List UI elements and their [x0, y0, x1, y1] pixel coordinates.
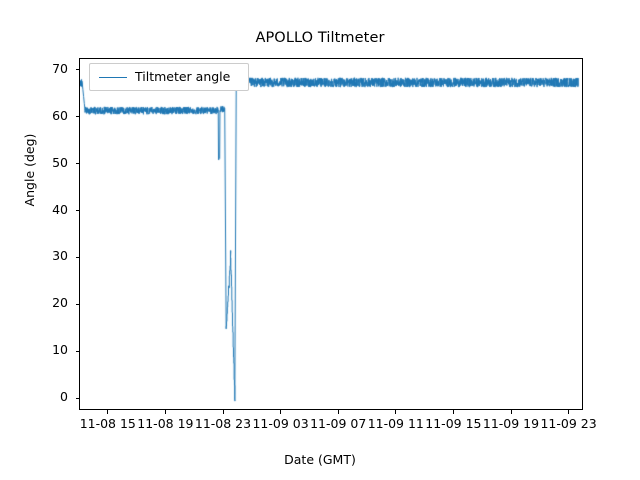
y-tick-label: 20	[0, 295, 68, 310]
y-tick-label: 60	[0, 108, 68, 123]
legend: Tiltmeter angle	[89, 63, 249, 91]
y-tick-mark	[76, 304, 80, 305]
y-tick-mark	[76, 116, 80, 117]
plot-area	[80, 59, 584, 411]
y-tick-label: 40	[0, 202, 68, 217]
x-tick-mark	[395, 410, 396, 414]
chart-title: APOLLO Tiltmeter	[0, 30, 640, 46]
figure: APOLLO Tiltmeter Tiltmeter angle Angle (…	[0, 0, 640, 480]
y-tick-label: 0	[0, 389, 68, 404]
y-tick-mark	[76, 257, 80, 258]
y-tick-label: 10	[0, 342, 68, 357]
y-tick-mark	[76, 69, 80, 70]
legend-label: Tiltmeter angle	[135, 69, 230, 84]
x-tick-mark	[453, 410, 454, 414]
x-tick-mark	[338, 410, 339, 414]
x-tick-mark	[165, 410, 166, 414]
y-tick-label: 50	[0, 155, 68, 170]
plot-axes: Tiltmeter angle	[79, 58, 583, 410]
x-tick-mark	[568, 410, 569, 414]
x-axis-label: Date (GMT)	[0, 452, 640, 467]
y-tick-mark	[76, 398, 80, 399]
y-tick-label: 70	[0, 61, 68, 76]
y-tick-label: 30	[0, 248, 68, 263]
x-tick-mark	[223, 410, 224, 414]
x-tick-mark	[511, 410, 512, 414]
x-tick-mark	[107, 410, 108, 414]
x-tick-mark	[280, 410, 281, 414]
y-tick-mark	[76, 351, 80, 352]
y-tick-mark	[76, 163, 80, 164]
x-tick-label: 11-09 23	[529, 416, 609, 431]
legend-line-swatch	[99, 77, 127, 78]
y-tick-mark	[76, 210, 80, 211]
